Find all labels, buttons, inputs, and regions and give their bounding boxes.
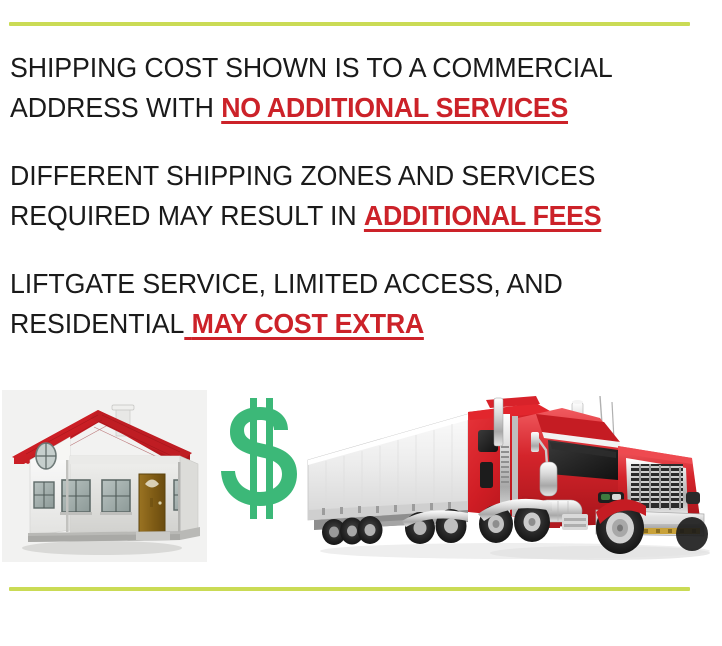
highlight-no-additional-services: NO ADDITIONAL SERVICES xyxy=(221,92,568,123)
line-plain-text: DIFFERENT SHIPPING ZONES AND SERVICES xyxy=(10,160,595,191)
paragraph-liftgate-residential: LIFTGATE SERVICE, LIMITED ACCESS, AND RE… xyxy=(10,264,710,344)
line-plain-text: SHIPPING COST SHOWN IS TO A COMMERCIAL xyxy=(10,52,613,83)
line-plain-text: REQUIRED MAY RESULT IN xyxy=(10,200,364,231)
line-plain-text: RESIDENTIAL xyxy=(10,308,184,339)
media-row xyxy=(0,388,722,568)
line-plain-text: LIFTGATE SERVICE, LIMITED ACCESS, AND xyxy=(10,268,563,299)
banner-root: SHIPPING COST SHOWN IS TO A COMMERCIAL A… xyxy=(0,0,722,646)
house-illustration xyxy=(2,390,207,562)
text-line: REQUIRED MAY RESULT IN ADDITIONAL FEES xyxy=(10,196,679,236)
paragraph-commercial-address: SHIPPING COST SHOWN IS TO A COMMERCIAL A… xyxy=(10,48,710,128)
text-line: ADDRESS WITH NO ADDITIONAL SERVICES xyxy=(10,88,679,128)
highlight-additional-fees: ADDITIONAL FEES xyxy=(364,200,601,231)
text-line: DIFFERENT SHIPPING ZONES AND SERVICES xyxy=(10,156,679,196)
text-line: LIFTGATE SERVICE, LIMITED ACCESS, AND xyxy=(10,264,679,304)
divider-bottom xyxy=(9,587,690,591)
house-image xyxy=(2,390,207,562)
divider-top xyxy=(9,22,690,26)
highlight-may-cost-extra: MAY COST EXTRA xyxy=(192,308,424,339)
line-plain-text: ADDRESS WITH xyxy=(10,92,221,123)
semi-truck-image xyxy=(300,388,720,568)
semi-truck-illustration xyxy=(300,388,720,568)
dollar-sign-icon xyxy=(216,396,308,521)
dollar-sign-glyph xyxy=(216,396,308,521)
text-line: RESIDENTIAL MAY COST EXTRA xyxy=(10,304,679,344)
disclaimer-copy: SHIPPING COST SHOWN IS TO A COMMERCIAL A… xyxy=(10,48,710,344)
paragraph-zones-services: DIFFERENT SHIPPING ZONES AND SERVICES RE… xyxy=(10,156,710,236)
text-line: SHIPPING COST SHOWN IS TO A COMMERCIAL xyxy=(10,48,679,88)
